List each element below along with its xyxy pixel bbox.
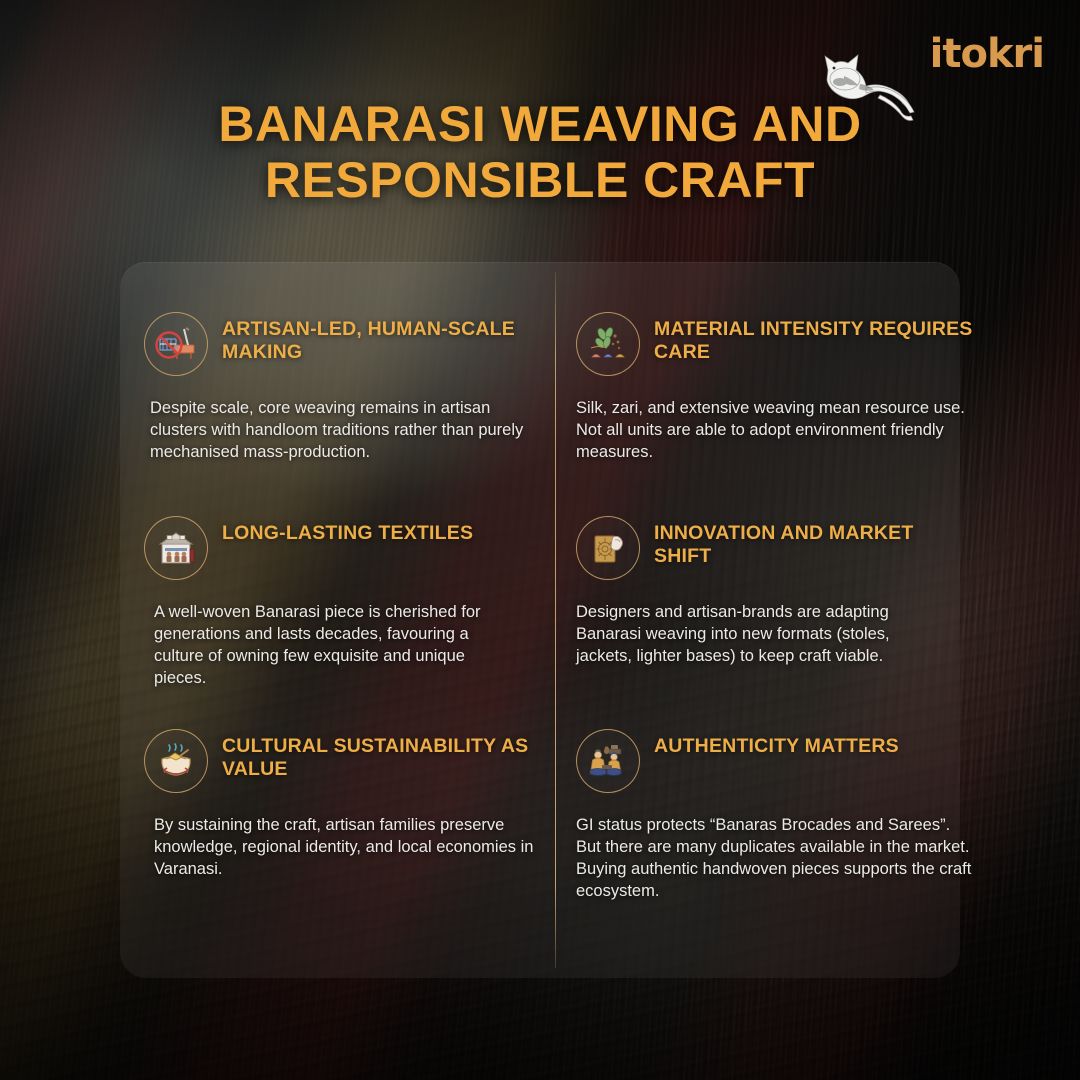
two-artisans-seated-icon: [576, 729, 640, 793]
card-cultural-sustainability: CULTURAL SUSTAINABILITY AS VALUE By sust…: [144, 727, 544, 881]
page-title-line-1: BANARASI WEAVING AND: [90, 96, 990, 152]
card-title: CULTURAL SUSTAINABILITY AS VALUE: [222, 727, 542, 782]
card-header: LONG-LASTING TEXTILES: [144, 514, 544, 580]
infographic-canvas: itokri BANARASI WEAVING AND RESPONSIBLE …: [0, 0, 1080, 1080]
page-title: BANARASI WEAVING AND RESPONSIBLE CRAFT: [0, 96, 1080, 208]
card-authenticity-matters: AUTHENTICITY MATTERS GI status protects …: [576, 727, 976, 903]
cards-grid: ARTISAN-LED, HUMAN-SCALE MAKING Despite …: [120, 262, 960, 978]
card-body: By sustaining the craft, artisan familie…: [154, 815, 544, 881]
card-artisan-led: ARTISAN-LED, HUMAN-SCALE MAKING Despite …: [144, 310, 544, 464]
card-header: MATERIAL INTENSITY REQUIRES CARE: [576, 310, 976, 376]
card-body: A well-woven Banarasi piece is cherished…: [154, 602, 504, 690]
card-long-lasting-textiles: LONG-LASTING TEXTILES A well-woven Banar…: [144, 514, 544, 690]
card-body: Despite scale, core weaving remains in a…: [150, 398, 532, 464]
card-title: ARTISAN-LED, HUMAN-SCALE MAKING: [222, 310, 522, 365]
card-header: INNOVATION AND MARKET SHIFT: [576, 514, 976, 580]
hand-holding-fabric-swatch-icon: [576, 516, 640, 580]
no-machine-loom-icon: [144, 312, 208, 376]
card-header: CULTURAL SUSTAINABILITY AS VALUE: [144, 727, 544, 793]
card-innovation-market-shift: INNOVATION AND MARKET SHIFT Designers an…: [576, 514, 976, 668]
steaming-dye-pot-icon: [144, 729, 208, 793]
card-title: LONG-LASTING TEXTILES: [222, 514, 473, 545]
card-material-intensity: MATERIAL INTENSITY REQUIRES CARE Silk, z…: [576, 310, 976, 464]
card-header: AUTHENTICITY MATTERS: [576, 727, 976, 793]
artisan-shop-icon: [144, 516, 208, 580]
card-body: Silk, zari, and extensive weaving mean r…: [576, 398, 976, 464]
brand-logo-text: itokri: [930, 34, 1044, 74]
page-title-line-2: RESPONSIBLE CRAFT: [90, 152, 990, 208]
natural-dye-leaves-icon: [576, 312, 640, 376]
card-header: ARTISAN-LED, HUMAN-SCALE MAKING: [144, 310, 544, 376]
card-title: AUTHENTICITY MATTERS: [654, 727, 899, 758]
card-body: Designers and artisan-brands are adaptin…: [576, 602, 948, 668]
brand-logo: itokri: [930, 34, 1044, 74]
card-body: GI status protects “Banaras Brocades and…: [576, 815, 976, 903]
card-title: MATERIAL INTENSITY REQUIRES CARE: [654, 310, 976, 365]
card-title: INNOVATION AND MARKET SHIFT: [654, 514, 976, 569]
